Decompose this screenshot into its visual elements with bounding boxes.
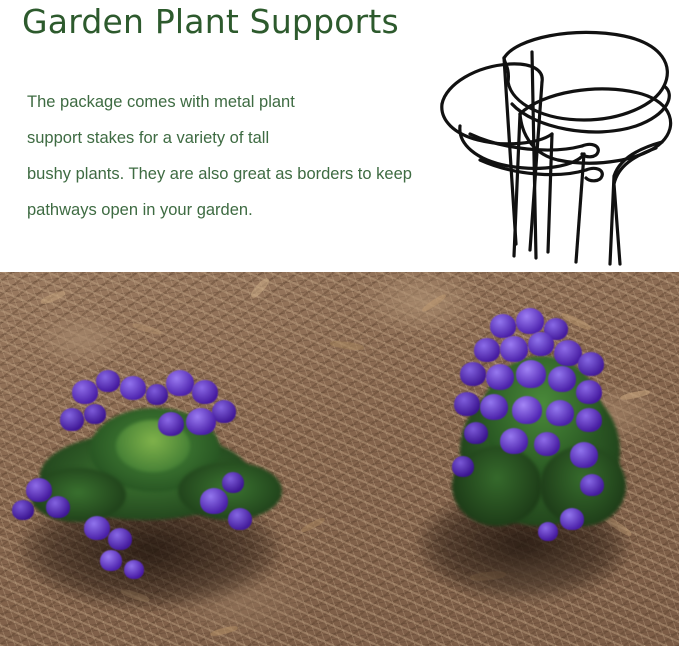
before-after-photo [0,272,679,646]
flower-bloom [512,396,542,424]
flower-bloom [490,314,516,338]
flower-bloom [570,442,598,468]
flower-bloom [516,308,544,334]
flower-bloom [108,528,132,550]
flower-bloom [12,500,34,520]
flower-bloom [228,508,252,530]
flower-bloom [464,422,488,444]
flower-bloom [486,364,514,390]
flower-bloom [166,370,194,396]
flower-bloom [580,474,604,496]
flower-bloom [452,456,474,477]
flower-bloom [546,400,574,426]
flower-bloom [474,338,500,362]
flower-bloom [528,332,554,356]
flower-bloom [222,472,244,493]
flower-bloom [560,508,584,530]
flower-bloom [158,412,184,436]
flower-bloom [534,432,560,456]
flower-bloom [516,360,546,388]
flower-bloom [124,560,144,579]
header-banner: Garden Plant Supports The package comes … [0,0,679,272]
flower-bloom [578,352,604,376]
flower-bloom [200,488,228,514]
flower-bloom [186,408,216,435]
flower-bloom [538,522,558,541]
page-title: Garden Plant Supports [22,2,399,41]
flower-bloom [60,408,84,431]
flower-bloom [96,370,120,392]
flower-bloom [84,404,106,424]
product-infographic: Garden Plant Supports The package comes … [0,0,679,646]
flower-bloom [72,380,98,404]
flower-bloom [46,496,70,518]
flower-bloom [454,392,480,416]
flower-bloom [576,408,602,432]
plant-support-hoop-icon [424,8,679,266]
flower-bloom [146,384,168,405]
flower-bloom [26,478,52,502]
flower-bloom [460,362,486,386]
flower-bloom [500,428,528,454]
plant-unsupported [0,312,300,592]
flower-bloom [500,336,528,362]
flower-bloom [100,550,122,571]
flower-bloom [480,394,508,420]
flower-bloom [548,366,576,392]
flower-bloom [192,380,218,404]
flower-bloom [120,376,146,400]
plant-supported [430,296,660,576]
flower-bloom [576,380,602,404]
flower-bloom [84,516,110,540]
